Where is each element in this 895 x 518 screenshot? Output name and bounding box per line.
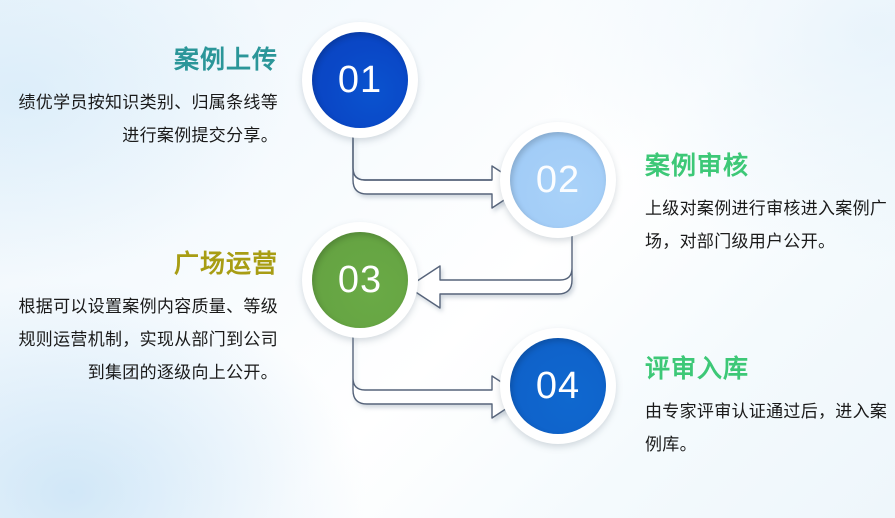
step-text-block-03: 广场运营 根据可以设置案例内容质量、等级规则运营机制，实现从部门到公司到集团的逐…	[10, 250, 278, 389]
step-number-02: 02	[536, 161, 580, 199]
step-number-01: 01	[338, 61, 382, 99]
step-title-04: 评审入库	[645, 355, 895, 385]
step-number-04: 04	[536, 367, 580, 405]
step-node-01[interactable]: 01	[302, 22, 418, 138]
step-text-block-04: 评审入库 由专家评审认证通过后，进入案例库。	[645, 355, 895, 461]
step-node-02[interactable]: 02	[500, 122, 616, 238]
step-title-02: 案例审核	[645, 152, 895, 182]
step-body-04: 由专家评审认证通过后，进入案例库。	[645, 395, 895, 461]
step-number-03: 03	[338, 261, 382, 299]
arrow-01-to-02-icon	[353, 135, 524, 208]
step-node-03[interactable]: 03	[302, 222, 418, 338]
step-disc-03: 03	[312, 232, 408, 328]
arrow-03-to-04-icon	[353, 334, 524, 418]
step-disc-04: 04	[510, 338, 606, 434]
step-title-03: 广场运营	[10, 250, 278, 280]
step-body-02: 上级对案例进行审核进入案例广场，对部门级用户公开。	[645, 192, 895, 258]
step-disc-01: 01	[312, 32, 408, 128]
arrow-02-to-03-icon	[408, 236, 572, 308]
step-body-01: 绩优学员按知识类别、归属条线等进行案例提交分享。	[10, 86, 278, 152]
process-flow-diagram: 01 02 03 04 案例上传 绩优学员按知识类别、归属条线等进行案例提交分享…	[0, 0, 895, 518]
step-node-04[interactable]: 04	[500, 328, 616, 444]
step-body-03: 根据可以设置案例内容质量、等级规则运营机制，实现从部门到公司到集团的逐级向上公开…	[10, 290, 278, 389]
step-disc-02: 02	[510, 132, 606, 228]
step-title-01: 案例上传	[10, 46, 278, 76]
step-text-block-01: 案例上传 绩优学员按知识类别、归属条线等进行案例提交分享。	[10, 46, 278, 152]
step-text-block-02: 案例审核 上级对案例进行审核进入案例广场，对部门级用户公开。	[645, 152, 895, 258]
